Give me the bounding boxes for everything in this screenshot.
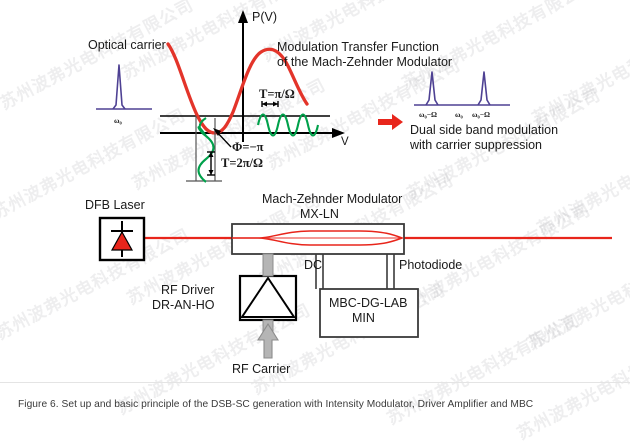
input-spectrum bbox=[96, 65, 152, 109]
period-half-marker bbox=[262, 101, 278, 107]
figure-root: 苏州波弗光电科技有限公司 苏州波弗光电科技有限公司 苏州波弗光电科技有限公司 苏… bbox=[0, 0, 630, 424]
period-full-marker bbox=[207, 152, 215, 175]
period-full-label: T=2π/Ω bbox=[221, 156, 263, 171]
transfer-function-title-line2: of the Mach-Zehnder Modulator bbox=[277, 55, 452, 70]
rf-carrier-label: RF Carrier bbox=[232, 362, 290, 377]
period-half-label: T=π/Ω bbox=[259, 87, 295, 102]
bias-phase-label: Φ=−π bbox=[232, 140, 263, 155]
process-arrow-icon bbox=[378, 114, 403, 130]
figure-caption: Figure 6. Set up and basic principle of … bbox=[18, 399, 618, 410]
output-spectrum bbox=[414, 72, 510, 105]
output-spectrum-line-label: ω₀−Ω bbox=[419, 111, 437, 120]
dc-port-label: DC bbox=[304, 258, 322, 273]
transfer-function-axes bbox=[160, 10, 345, 142]
photodiode-port-label: Photodiode bbox=[399, 258, 462, 273]
modulator-label-line1: Mach-Zehnder Modulator bbox=[262, 192, 402, 207]
dsb-sc-caption-line2: with carrier suppression bbox=[410, 138, 542, 153]
optical-carrier-label: Optical carrier bbox=[88, 38, 166, 53]
photodiode-connection bbox=[387, 254, 394, 289]
optical-carrier-frequency-label: ω₀ bbox=[114, 117, 122, 126]
mbc-controller-label-line1: MBC-DG-LAB bbox=[329, 296, 407, 311]
rf-driver-label-line1: RF Driver bbox=[161, 283, 214, 298]
modulator-label-line2: MX-LN bbox=[300, 207, 339, 222]
transfer-function-title-line1: Modulation Transfer Function bbox=[277, 40, 439, 55]
rf-driver-label-line2: DR-AN-HO bbox=[152, 298, 215, 313]
caption-divider bbox=[0, 382, 630, 383]
output-spectrum-line-label: ω₀−Ω bbox=[472, 111, 490, 120]
rf-carrier-arrow-icon bbox=[258, 324, 278, 358]
dsb-sc-caption-line1: Dual side band modulation bbox=[410, 123, 558, 138]
v-axis-label: V bbox=[341, 136, 349, 150]
mach-zehnder-modulator-body bbox=[232, 224, 404, 254]
output-spectrum-line-label: ω₀ bbox=[455, 111, 463, 120]
p-of-v-axis-label: P(V) bbox=[252, 10, 277, 25]
mbc-controller-label-line2: MIN bbox=[352, 311, 375, 326]
dfb-laser-symbol bbox=[100, 218, 144, 260]
dfb-laser-label: DFB Laser bbox=[85, 198, 145, 213]
